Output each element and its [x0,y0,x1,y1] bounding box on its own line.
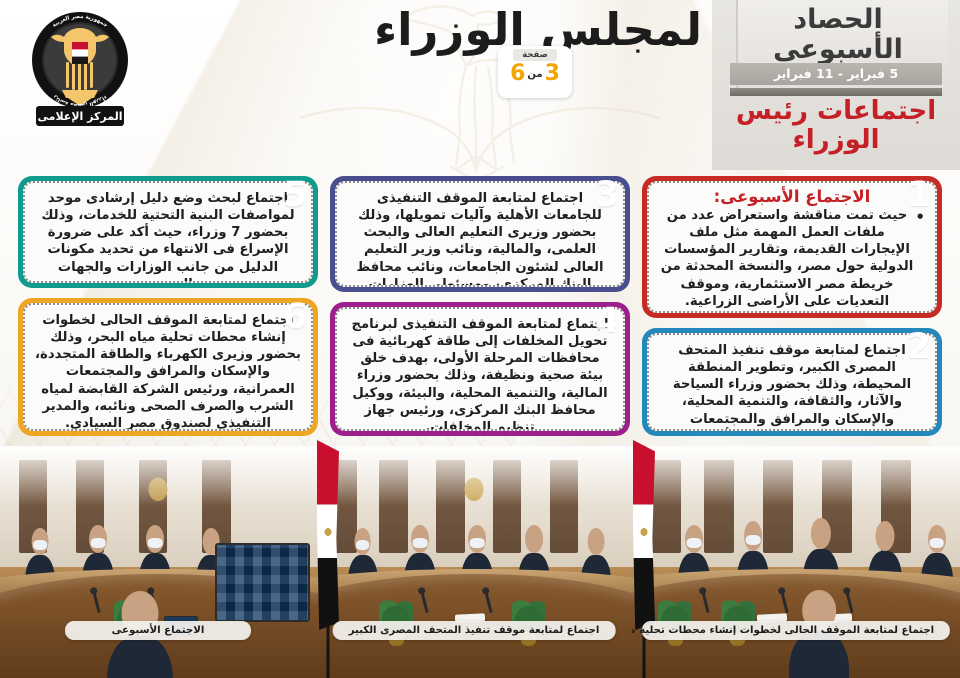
photo-3-top-fade [0,446,316,506]
photo-desalination-meeting: اجتماع لمتابعة الموقف الحالى لخطوات إنشا… [632,446,960,678]
card-5-number: 5 [276,178,314,213]
page-badge-separator: من [527,69,542,80]
harvest-title-line2: الأسبوعى [738,35,938,65]
header: الحصاد الأسبوعى 5 فبراير - 11 فبراير اجت… [0,0,960,170]
section-title-bar [730,88,942,96]
card-6-inner: اجتماع لمتابعة الموقف الحالى لخطوات إنشا… [23,303,313,431]
photo-weekly-meeting: الاجتماع الأسبوعى [0,446,316,678]
card-2: 2 اجتماع لمتابعة موقف تنفيذ المتحف المصر… [642,328,942,436]
page-badge-numbers: 3من6 [498,62,572,85]
harvest-title-line1: الحصاد [738,5,938,35]
date-range: 5 فبراير - 11 فبراير [730,63,942,85]
card-5-inner: اجتماع لبحث وضع دليل إرشادى موحد لمواصفا… [23,181,313,283]
card-6: 6 اجتماع لمتابعة الموقف الحالى لخطوات إن… [18,298,318,436]
card-4-inner: اجتماع لمتابعة الموقف التنفيذى لبرنامج ت… [335,307,625,431]
section-title-line1: اجتماعات رئيس [730,97,942,126]
photo-2-caption: اجتماع لمتابعة موقف تنفيذ المتحف المصرى … [333,621,616,640]
card-3-number: 3 [588,178,626,213]
card-4-body: اجتماع لمتابعة الموقف التنفيذى لبرنامج ت… [347,316,613,431]
card-1: 1 الاجتماع الأسبوعى: حيث تمت مناقشة واست… [642,176,942,318]
card-3-body: اجتماع لمتابعة الموقف التنفيذى للجامعات … [347,190,613,287]
card-2-number: 2 [900,330,938,365]
cards-grid: 1 الاجتماع الأسبوعى: حيث تمت مناقشة واست… [0,168,960,446]
card-5-body: اجتماع لبحث وضع دليل إرشادى موحد لمواصفا… [35,190,301,283]
photo-1-top-fade [632,446,960,506]
card-1-inner: الاجتماع الأسبوعى: حيث تمت مناقشة واستعر… [647,181,937,313]
photo-1-caption: اجتماع لمتابعة الموقف الحالى لخطوات إنشا… [642,621,950,640]
cabinet-media-center-logo-icon: جمهورية مصر العربية رئاسة مجلس الوزراء ا… [22,6,138,130]
video-conference-screen [215,543,310,622]
infographic-page: الحصاد الأسبوعى 5 فبراير - 11 فبراير اجت… [0,0,960,678]
section-title: اجتماعات رئيس الوزراء [730,97,942,154]
card-1-body: حيث تمت مناقشة واستعراض عدد من ملفات الع… [659,207,925,310]
page-number-badge: صفحة 3من6 [498,46,572,98]
card-2-inner: اجتماع لمتابعة موقف تنفيذ المتحف المصرى … [647,333,937,431]
photo-strip: اجتماع لمتابعة الموقف الحالى لخطوات إنشا… [0,446,960,678]
card-3-inner: اجتماع لمتابعة الموقف التنفيذى للجامعات … [335,181,625,287]
card-1-title: الاجتماع الأسبوعى: [659,187,925,206]
page-badge-total: 6 [510,61,525,86]
card-4-number: 4 [588,304,626,339]
harvest-title: الحصاد الأسبوعى [738,5,938,65]
card-5: 5 اجتماع لبحث وضع دليل إرشادى موحد لمواص… [18,176,318,288]
card-6-number: 6 [276,300,314,335]
card-1-number: 1 [900,178,938,213]
section-title-line2: الوزراء [730,126,942,155]
page-badge-label: صفحة [513,49,557,61]
card-2-body: اجتماع لمتابعة موقف تنفيذ المتحف المصرى … [659,342,925,431]
photo-2-top-fade [316,446,632,506]
page-badge-current: 3 [545,61,560,86]
photo-grand-egyptian-museum-meeting: اجتماع لمتابعة موقف تنفيذ المتحف المصرى … [316,446,632,678]
svg-text:المركز الإعلامى: المركز الإعلامى [38,110,123,123]
card-6-body: اجتماع لمتابعة الموقف الحالى لخطوات إنشا… [35,312,301,431]
card-3: 3 اجتماع لمتابعة الموقف التنفيذى للجامعا… [330,176,630,292]
photo-3-caption: الاجتماع الأسبوعى [65,621,251,640]
card-4: 4 اجتماع لمتابعة الموقف التنفيذى لبرنامج… [330,302,630,436]
